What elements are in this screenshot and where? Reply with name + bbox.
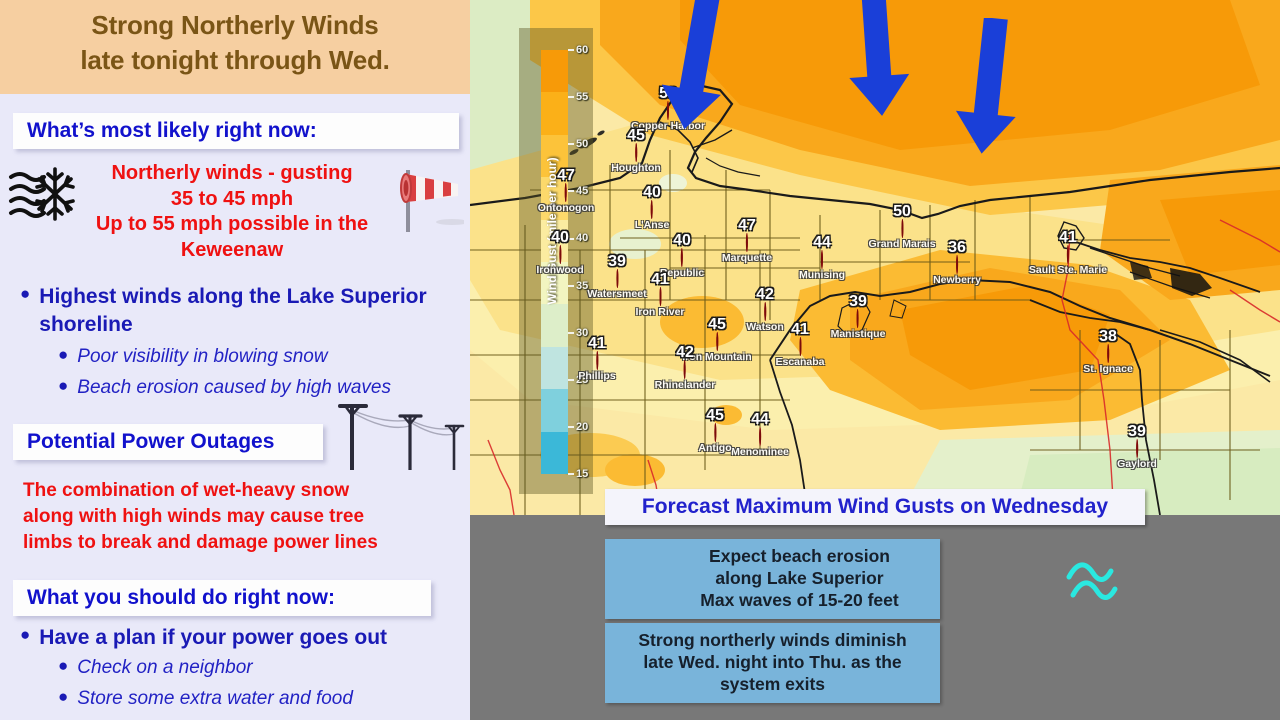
colorbar-segment	[541, 50, 568, 92]
colorbar-tick: 55	[568, 91, 588, 103]
colorbar-tick: 50	[568, 138, 588, 150]
wind-diminish-box: Strong northerly winds diminish late Wed…	[605, 623, 940, 703]
gust-line-2: 35 to 45 mph	[52, 187, 412, 213]
erosion-line-1: Expect beach erosion	[700, 546, 898, 568]
colorbar-tick: 60	[568, 44, 588, 56]
page-title: Strong Northerly Winds late tonight thro…	[0, 8, 470, 77]
colorbar-segment	[541, 432, 568, 474]
colorbar-axis-label: Wind Gust (mile per hour)	[545, 146, 559, 316]
bullet-dot-icon: ●	[20, 624, 30, 646]
erosion-line-3: Max waves of 15-20 feet	[700, 590, 898, 612]
colorbar-segment	[541, 92, 568, 134]
bullet-store-water-food: ● Store some extra water and food	[58, 686, 470, 712]
section-heading-what-you-should-do: What you should do right now:	[13, 580, 431, 616]
colorbar-tick: 45	[568, 185, 588, 197]
title-line-1: Strong Northerly Winds	[0, 8, 470, 43]
colorbar-tick: 35	[568, 280, 588, 292]
diminish-line-2: late Wed. night into Thu. as the	[638, 652, 906, 674]
bullet-beach-erosion-label: Beach erosion caused by high waves	[77, 375, 391, 401]
gust-line-1: Northerly winds - gusting	[52, 161, 412, 187]
bullet-shoreline: ● Highest winds along the Lake Superior …	[20, 283, 460, 338]
wind-direction-arrow	[838, 0, 918, 128]
section-heading-most-likely: What’s most likely right now:	[13, 113, 459, 149]
wind-gust-colorbar: 15202530354045505560 Wind Gust (mile per…	[519, 28, 593, 494]
colorbar-segment	[541, 347, 568, 389]
title-line-2: late tonight through Wed.	[0, 43, 470, 78]
gust-line-3: Up to 55 mph possible in the	[52, 212, 412, 238]
power-lines-icon	[338, 398, 470, 470]
map-panel: 15202530354045505560 Wind Gust (mile per…	[470, 0, 1280, 720]
bullet-dot-icon: ●	[58, 375, 68, 397]
diminish-line-1: Strong northerly winds diminish	[638, 630, 906, 652]
windsock-icon	[392, 158, 464, 240]
bullet-store-water-food-label: Store some extra water and food	[77, 686, 353, 712]
bullet-dot-icon: ●	[58, 686, 68, 708]
colorbar-tick: 30	[568, 327, 588, 339]
bullet-visibility-label: Poor visibility in blowing snow	[77, 344, 327, 370]
gust-forecast-text: Northerly winds - gusting 35 to 45 mph U…	[52, 161, 412, 263]
diminish-line-3: system exits	[638, 674, 906, 696]
wind-direction-arrow	[948, 18, 1028, 168]
bullet-dot-icon: ●	[58, 655, 68, 677]
gust-line-4: Keweenaw	[52, 238, 412, 264]
erosion-line-2: along Lake Superior	[700, 568, 898, 590]
bullet-beach-erosion: ● Beach erosion caused by high waves	[58, 375, 470, 401]
bullet-have-a-plan: ● Have a plan if your power goes out	[20, 624, 470, 652]
colorbar-tick-labels: 15202530354045505560	[568, 50, 598, 474]
bullet-visibility: ● Poor visibility in blowing snow	[58, 344, 470, 370]
bullet-have-a-plan-label: Have a plan if your power goes out	[39, 624, 387, 652]
wind-direction-arrow	[655, 0, 735, 144]
power-outage-text: The combination of wet-heavy snow along …	[23, 478, 463, 557]
bullet-shoreline-label: Highest winds along the Lake Superior sh…	[39, 283, 460, 338]
bullet-dot-icon: ●	[20, 283, 30, 305]
colorbar-segment	[541, 389, 568, 431]
bullet-check-neighbor-label: Check on a neighbor	[77, 655, 252, 681]
colorbar-tick: 20	[568, 421, 588, 433]
outage-line-1: The combination of wet-heavy snow	[23, 478, 463, 504]
info-panel: Strong Northerly Winds late tonight thro…	[0, 0, 470, 720]
colorbar-tick: 25	[568, 374, 588, 386]
section-heading-power-outages: Potential Power Outages	[13, 424, 323, 460]
outage-line-2: along with high winds may cause tree	[23, 504, 463, 530]
colorbar-tick: 40	[568, 232, 588, 244]
wave-icon	[1065, 551, 1129, 605]
beach-erosion-box: Expect beach erosion along Lake Superior…	[605, 539, 940, 619]
bullet-dot-icon: ●	[58, 344, 68, 366]
bullet-check-neighbor: ● Check on a neighbor	[58, 655, 470, 681]
colorbar-tick: 15	[568, 468, 588, 480]
wind-gust-map: 15202530354045505560 Wind Gust (mile per…	[470, 0, 1280, 515]
outage-line-3: limbs to break and damage power lines	[23, 530, 463, 556]
forecast-banner: Forecast Maximum Wind Gusts on Wednesday	[605, 489, 1145, 525]
